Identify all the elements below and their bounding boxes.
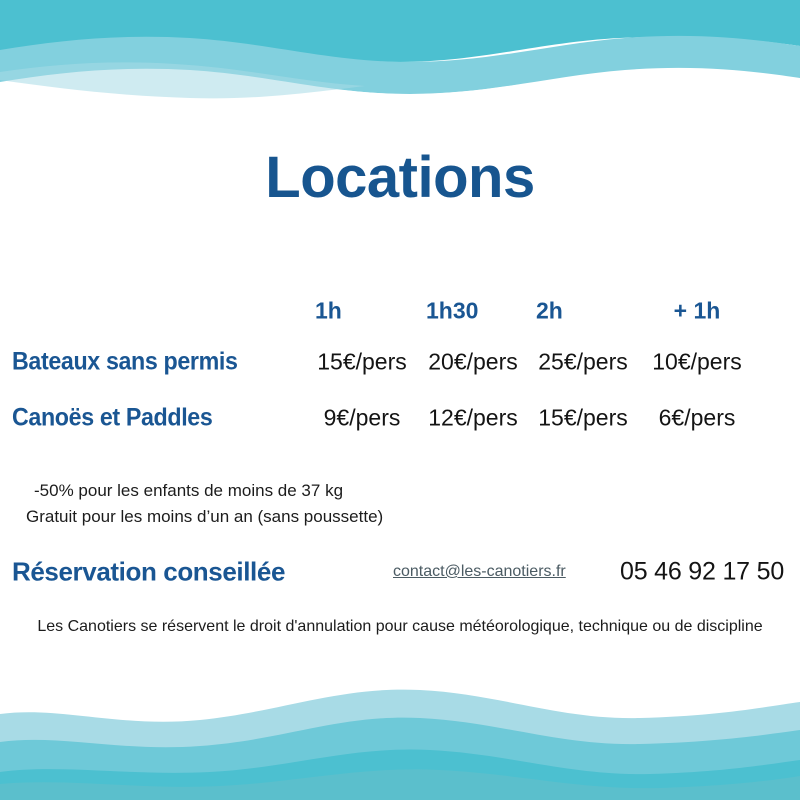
bottom-wave-decoration (0, 680, 800, 800)
price-canoes-plus-1h: 6€/pers (632, 405, 762, 432)
disclaimer-text: Les Canotiers se réservent le droit d'an… (0, 618, 800, 636)
table-row: Canoës et Paddles 9€/pers 12€/pers 15€/p… (0, 390, 800, 446)
price-bateaux-2h: 25€/pers (518, 349, 648, 376)
table-header-row: 1h 1h30 2h + 1h (0, 288, 800, 334)
row-label-canoes: Canoës et Paddles (12, 404, 228, 433)
pricing-poster: Locations 1h 1h30 2h + 1h Bateaux sans p… (0, 0, 800, 800)
price-canoes-2h: 15€/pers (518, 405, 648, 432)
price-bateaux-plus-1h: 10€/pers (632, 349, 762, 376)
note-child-discount: -50% pour les enfants de moins de 37 kg (0, 478, 800, 504)
contact-email-link[interactable]: contact@les-canotiers.fr (393, 563, 566, 581)
table-row: Bateaux sans permis 15€/pers 20€/pers 25… (0, 334, 800, 390)
note-infant-free: Gratuit pour les moins d’un an (sans pou… (0, 504, 800, 530)
reservation-title: Réservation conseillée (12, 557, 285, 588)
row-label-canoes-text: Canoës et Paddles (12, 404, 212, 433)
page-title: Locations (0, 148, 800, 209)
column-header-2h: 2h (506, 298, 636, 325)
top-wave-decoration (0, 0, 800, 110)
row-label-bateaux-text: Bateaux sans permis (12, 348, 238, 377)
reservation-block: Réservation conseillée contact@les-canot… (0, 552, 800, 592)
column-header-plus-1h: + 1h (632, 298, 762, 325)
row-label-bateaux: Bateaux sans permis (12, 348, 255, 377)
contact-phone-number: 05 46 92 17 50 (620, 558, 784, 587)
price-table: 1h 1h30 2h + 1h Bateaux sans permis 15€/… (0, 288, 800, 446)
notes-block: -50% pour les enfants de moins de 37 kg … (0, 478, 800, 531)
